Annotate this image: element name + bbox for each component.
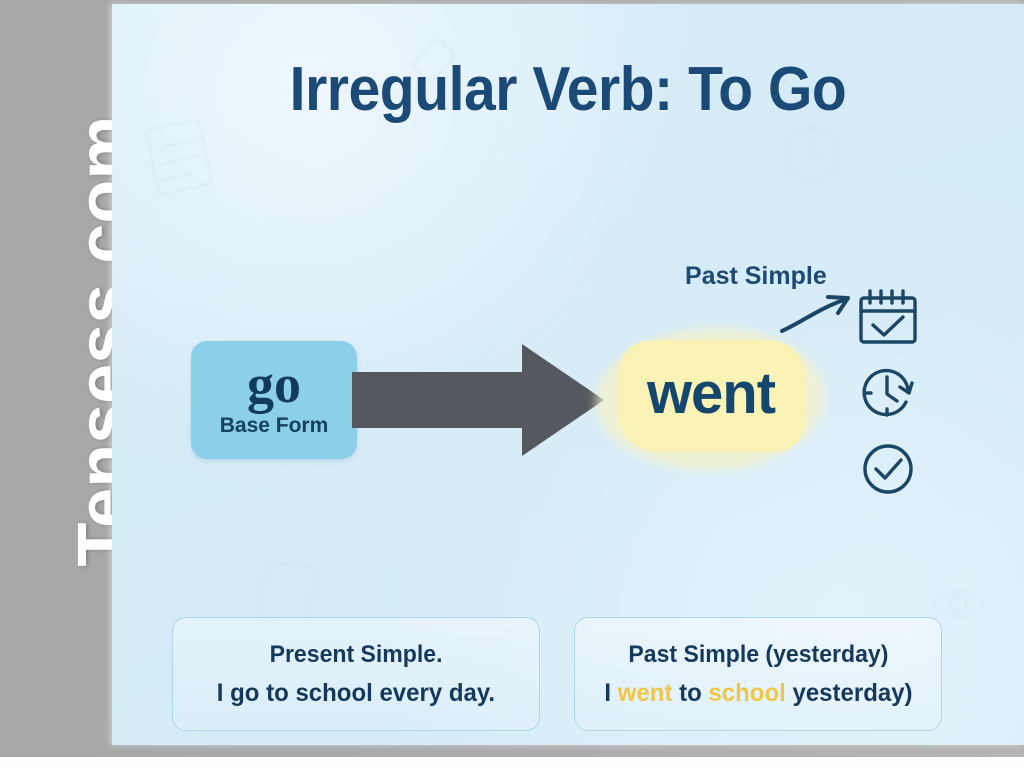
present-simple-card: Present Simple. I go to school every day… <box>172 617 540 731</box>
base-form-label: Base Form <box>220 414 329 438</box>
circle-check-icon <box>856 439 920 499</box>
example-cards: Present Simple. I go to school every day… <box>172 617 942 733</box>
sentence-text: I <box>604 679 617 707</box>
bottom-strip <box>0 757 1024 768</box>
present-simple-title: Present Simple. <box>270 641 443 669</box>
present-simple-sentence: I go to school every day. <box>217 679 495 708</box>
past-simple-title: Past Simple (yesterday) <box>628 641 888 669</box>
base-form-box: go Base Form <box>191 341 357 459</box>
transform-arrow-icon <box>352 342 604 458</box>
sentence-highlight-noun: school <box>708 679 785 707</box>
clock-history-icon <box>856 363 920 423</box>
slide-canvas: Tensess.com Irregular Verb: To Go go Bas… <box>0 0 1024 768</box>
sentence-text: to <box>672 679 708 707</box>
past-simple-sentence: I went to school yesterday) <box>604 679 912 708</box>
icon-stack <box>856 287 926 499</box>
sentence-text: I go to school every day. <box>217 679 495 707</box>
calendar-check-icon <box>856 287 920 347</box>
past-simple-card: Past Simple (yesterday) I went to school… <box>574 617 942 731</box>
slide-surface: Irregular Verb: To Go go Base Form Past … <box>112 4 1024 745</box>
sentence-highlight-verb: went <box>617 679 672 707</box>
past-simple-caption: Past Simple <box>685 262 827 291</box>
sentence-text: yesterday) <box>785 679 912 707</box>
base-form-word: go <box>247 358 301 411</box>
page-title: Irregular Verb: To Go <box>148 54 987 125</box>
past-form-word: went <box>596 360 826 427</box>
past-form-highlight: went <box>596 322 826 477</box>
